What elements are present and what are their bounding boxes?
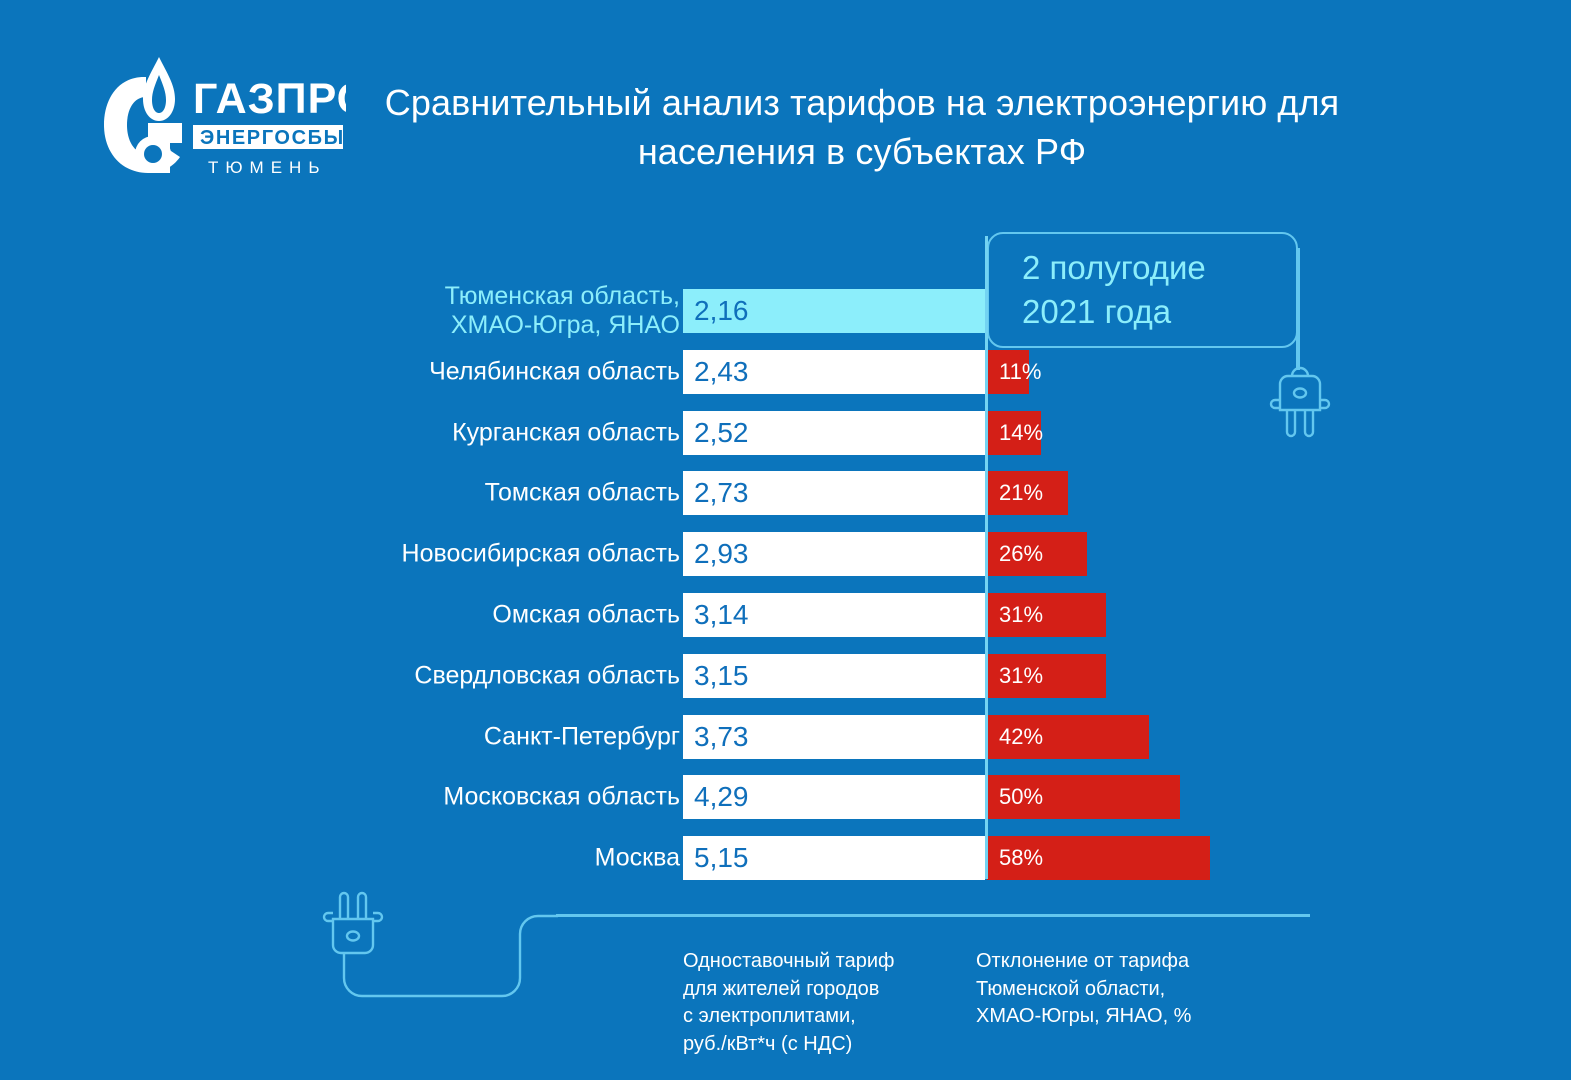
deviation-bar: 42% — [987, 715, 1149, 759]
tariff-value: 3,73 — [683, 723, 749, 751]
plug-icon — [318, 889, 388, 967]
deviation-bar: 14% — [987, 411, 1041, 455]
row-label: Новосибирская область — [260, 540, 680, 569]
tariff-value: 2,52 — [683, 419, 749, 447]
chart-row: Москва5,1558% — [0, 836, 1571, 880]
deviation-value: 58% — [987, 847, 1043, 869]
tariff-bar: 5,15 — [683, 836, 985, 880]
deviation-bar: 31% — [987, 654, 1106, 698]
infographic-canvas: ГАЗПРОМ ЭНЕРГОСБЫТ ТЮМЕНЬ Сравнительный … — [0, 0, 1571, 1080]
legend-tariff-note: Одноставочный тариф для жителей городов … — [683, 948, 953, 1058]
chart-row: Курганская область2,5214% — [0, 411, 1571, 455]
tariff-value: 3,14 — [683, 601, 749, 629]
tariff-bar: 3,14 — [683, 593, 985, 637]
tariff-bar: 3,15 — [683, 654, 985, 698]
deviation-value: 26% — [987, 543, 1043, 565]
row-label: Санкт-Петербург — [260, 722, 680, 751]
tariff-value: 5,15 — [683, 844, 749, 872]
deviation-value: 50% — [987, 786, 1043, 808]
row-label: Свердловская область — [260, 661, 680, 690]
deviation-value: 11% — [987, 361, 1041, 383]
deviation-bar: 26% — [987, 532, 1087, 576]
chart-row: Санкт-Петербург3,7342% — [0, 715, 1571, 759]
row-label: Москва — [260, 844, 680, 873]
footer-divider — [556, 914, 1310, 917]
deviation-value: 42% — [987, 726, 1043, 748]
deviation-value: 21% — [987, 482, 1043, 504]
chart-row: Челябинская область2,4311% — [0, 350, 1571, 394]
row-label: Омская область — [260, 601, 680, 630]
chart-row: Омская область3,1431% — [0, 593, 1571, 637]
deviation-bar: 21% — [987, 471, 1068, 515]
deviation-bar: 11% — [987, 350, 1029, 394]
deviation-value: 14% — [987, 422, 1043, 444]
tariff-value: 3,15 — [683, 662, 749, 690]
tariff-value: 2,43 — [683, 358, 749, 386]
tariff-value: 2,16 — [683, 297, 749, 325]
tariff-value: 2,93 — [683, 540, 749, 568]
tariff-bar: 2,16 — [683, 289, 985, 333]
row-label: Тюменская область, ХМАО-Югра, ЯНАО — [260, 282, 680, 340]
chart-row: Тюменская область, ХМАО-Югра, ЯНАО2,16 — [0, 289, 1571, 333]
chart-row: Томская область2,7321% — [0, 471, 1571, 515]
deviation-value: 31% — [987, 665, 1043, 687]
tariff-bar: 2,43 — [683, 350, 985, 394]
row-label: Томская область — [260, 479, 680, 508]
tariff-bar: 3,73 — [683, 715, 985, 759]
row-label: Московская область — [260, 783, 680, 812]
tariff-value: 2,73 — [683, 479, 749, 507]
baseline-divider — [985, 236, 988, 879]
deviation-bar: 31% — [987, 593, 1106, 637]
row-label: Челябинская область — [260, 357, 680, 386]
legend-deviation-note: Отклонение от тарифа Тюменской области, … — [976, 948, 1266, 1031]
tariff-bar: 2,73 — [683, 471, 985, 515]
row-label: Курганская область — [260, 418, 680, 447]
tariff-value: 4,29 — [683, 783, 749, 811]
deviation-bar: 58% — [987, 836, 1210, 880]
chart-row: Свердловская область3,1531% — [0, 654, 1571, 698]
chart-row: Московская область4,2950% — [0, 775, 1571, 819]
chart-row: Новосибирская область2,9326% — [0, 532, 1571, 576]
tariff-bar: 4,29 — [683, 775, 985, 819]
deviation-value: 31% — [987, 604, 1043, 626]
tariff-bar: 2,93 — [683, 532, 985, 576]
deviation-bar: 50% — [987, 775, 1180, 819]
tariff-bar-chart: Тюменская область, ХМАО-Югра, ЯНАО2,16Че… — [0, 0, 1571, 1080]
tariff-bar: 2,52 — [683, 411, 985, 455]
